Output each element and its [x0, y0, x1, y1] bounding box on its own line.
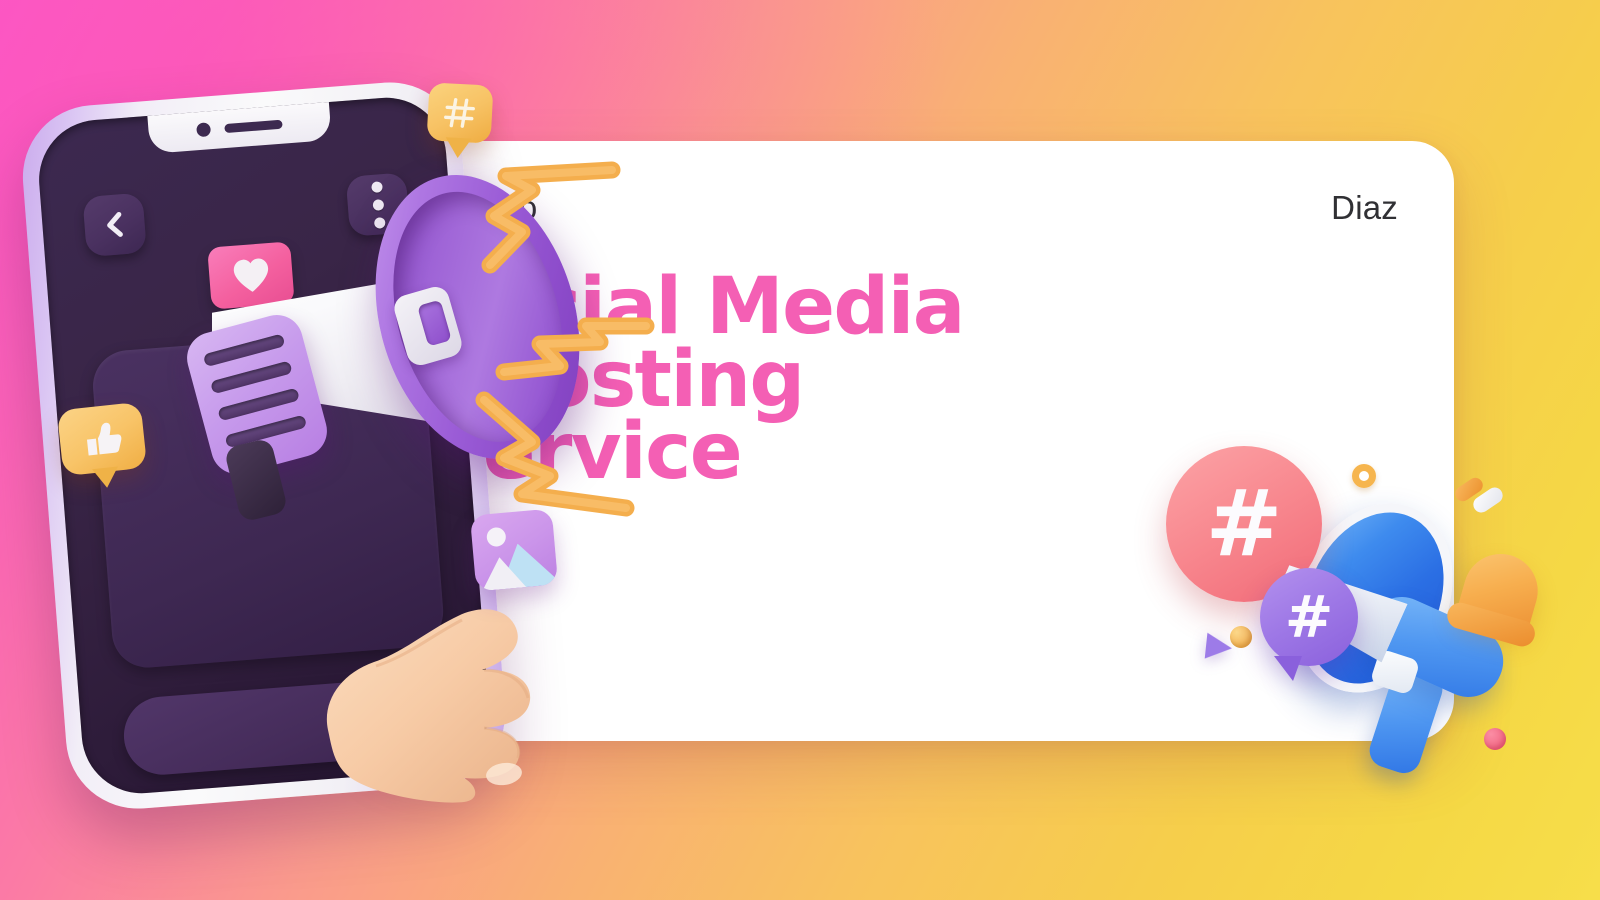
grille-slot — [217, 388, 300, 422]
image-placeholder-shape — [470, 509, 558, 592]
bell-icon — [1456, 545, 1547, 635]
sound-wave-icon — [480, 160, 630, 280]
sun-icon — [486, 527, 507, 548]
orange-sphere-accent — [1230, 626, 1252, 648]
earpiece-speaker-icon — [224, 119, 283, 132]
sound-wave-icon — [476, 390, 646, 520]
poster-canvas: Manalo Diaz Social Media Boosting Servic… — [0, 0, 1600, 900]
sound-wave-icon — [496, 320, 656, 400]
front-camera-icon — [196, 122, 211, 137]
thumbs-up-bubble-shape — [57, 402, 147, 476]
megaphone-illustration — [150, 150, 670, 630]
image-placeholder-icon — [473, 512, 555, 588]
hashtag-glyph-icon: # — [1285, 588, 1334, 646]
grille-slot — [203, 333, 286, 367]
hashtag-glyph-icon — [442, 95, 478, 131]
thumbs-up-bubble-icon — [57, 402, 147, 476]
grille-slot — [210, 360, 293, 394]
hashtag-bubble-shape — [427, 82, 494, 143]
chevron-left-icon — [103, 210, 127, 240]
hashtag-bubble-icon — [427, 82, 494, 143]
hashtag-glyph-icon: # — [1205, 478, 1282, 570]
header-name-right: Diaz — [1331, 189, 1398, 227]
hand-grip-icon — [318, 590, 568, 805]
pink-sphere-accent — [1484, 728, 1506, 750]
orange-torus-accent — [1352, 464, 1376, 488]
back-button[interactable] — [82, 193, 146, 257]
thumbs-up-glyph-icon — [79, 416, 125, 462]
social-icon-cluster: # # — [1148, 428, 1600, 788]
purple-triangle-accent — [1205, 633, 1234, 662]
hashtag-speech-bubble-icon: # — [1260, 568, 1358, 666]
